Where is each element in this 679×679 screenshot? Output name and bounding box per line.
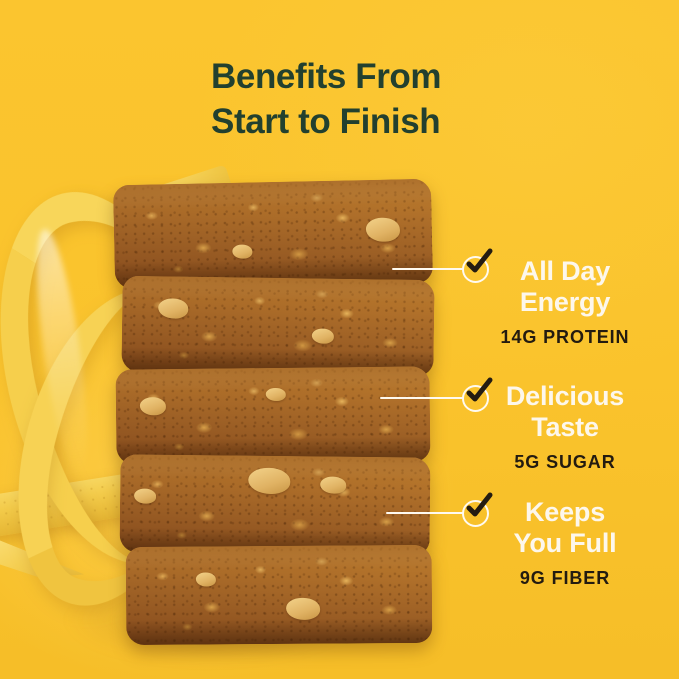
bar-nut-chunk: [158, 298, 188, 318]
protein-bar: [113, 179, 433, 290]
benefit-title-line-2: You Full: [472, 528, 658, 559]
page-title-line-2: Start to Finish: [211, 99, 511, 144]
benefit-title-line-2: Taste: [472, 412, 658, 443]
callout-leader-line: [392, 268, 464, 270]
protein-bar-stack: [108, 182, 438, 644]
protein-bar: [126, 545, 433, 645]
benefit-item: All Day Energy 14G PROTEIN: [472, 256, 658, 348]
bar-nut-chunk: [196, 572, 216, 586]
benefit-stat: 14G PROTEIN: [472, 327, 658, 348]
bar-crust: [113, 179, 432, 221]
benefit-title: Keeps You Full: [472, 497, 658, 559]
bar-nut-chunk: [320, 476, 346, 493]
benefit-title-line-1: Keeps: [472, 497, 658, 528]
callout-leader-line: [380, 397, 464, 399]
bar-nut-chunk: [312, 328, 334, 343]
benefit-stat: 9G FIBER: [472, 568, 658, 589]
promo-image: Benefits From Start to Finish: [0, 0, 679, 679]
benefit-title: Delicious Taste: [472, 381, 658, 443]
bar-nut-chunk: [366, 217, 400, 242]
protein-bar: [116, 366, 431, 464]
bar-underside: [126, 617, 432, 645]
benefit-title-line-1: All Day: [472, 256, 658, 287]
protein-bar: [119, 454, 430, 555]
bar-nut-chunk: [134, 489, 156, 504]
bar-nut-chunk: [286, 598, 320, 620]
page-title-line-1: Benefits From: [211, 54, 511, 99]
bar-nut-chunk: [248, 468, 290, 494]
protein-bar: [121, 276, 434, 376]
benefit-item: Delicious Taste 5G SUGAR: [472, 381, 658, 473]
benefit-item: Keeps You Full 9G FIBER: [472, 497, 658, 589]
benefit-title-line-2: Energy: [472, 287, 658, 318]
bar-nut-chunk: [266, 388, 286, 401]
bar-nut-chunk: [140, 397, 166, 415]
bar-nut-chunk: [232, 244, 252, 258]
callout-leader-line: [386, 512, 464, 514]
product-photo: [0, 160, 470, 679]
benefit-stat: 5G SUGAR: [472, 452, 658, 473]
benefit-title-line-1: Delicious: [472, 381, 658, 412]
benefit-title: All Day Energy: [472, 256, 658, 318]
bar-crust: [126, 545, 432, 580]
page-title: Benefits From Start to Finish: [211, 54, 511, 144]
